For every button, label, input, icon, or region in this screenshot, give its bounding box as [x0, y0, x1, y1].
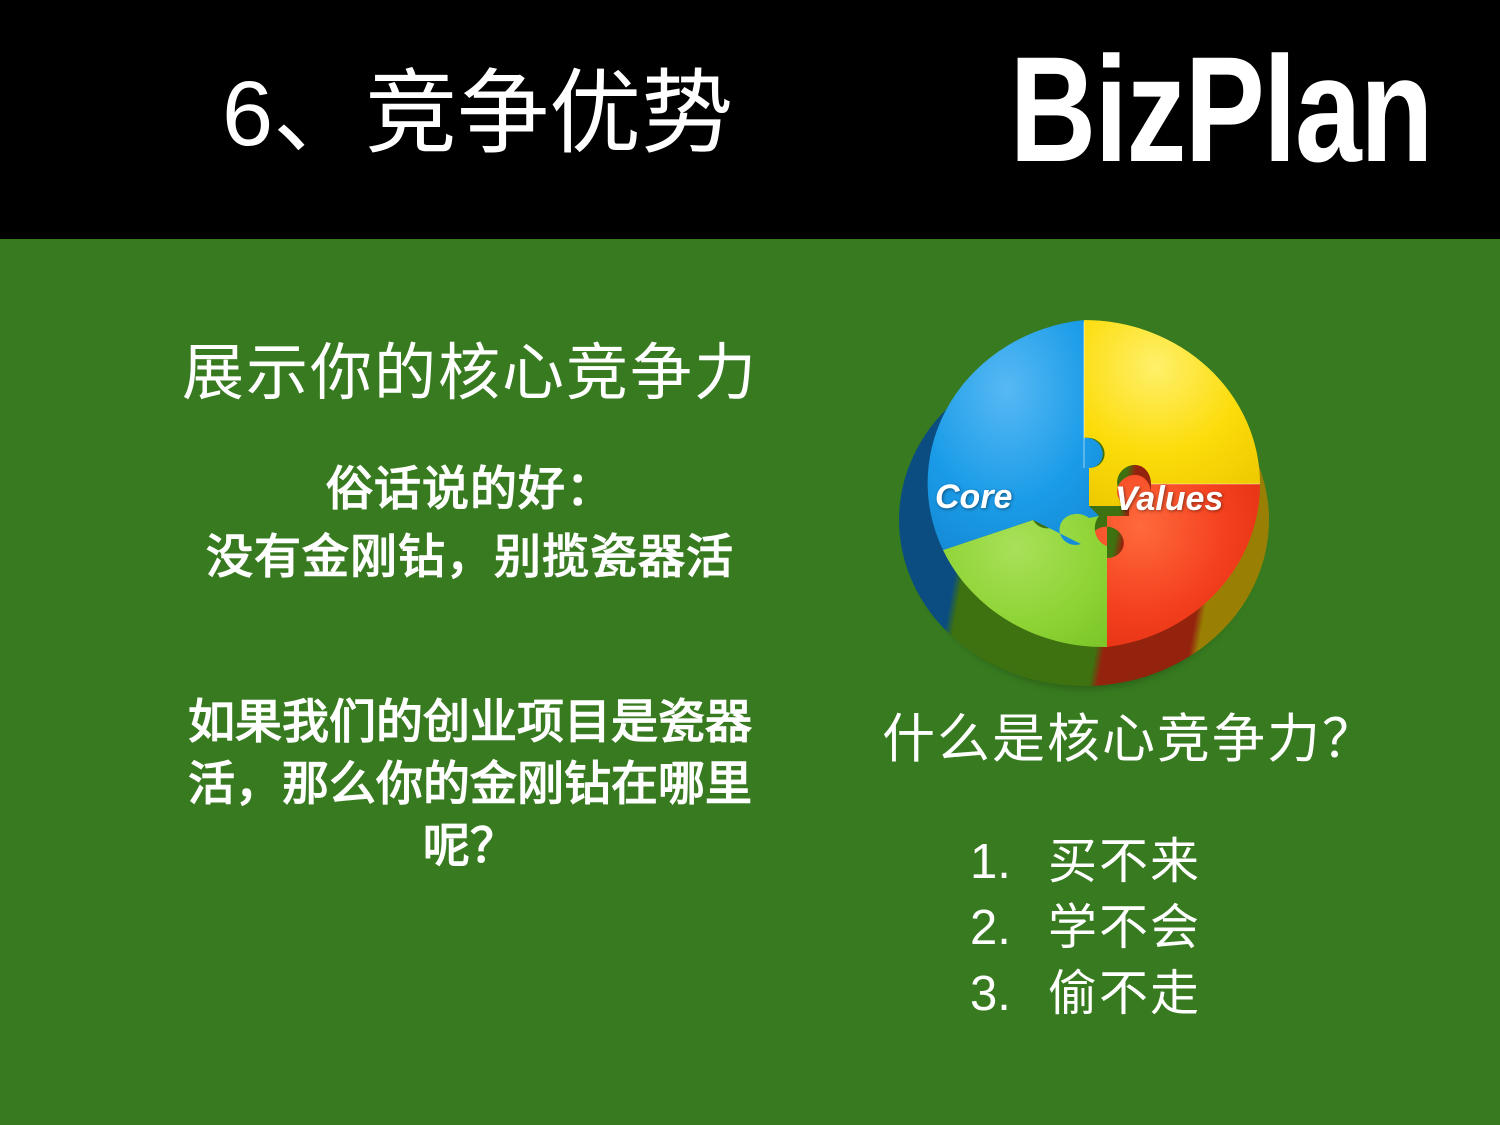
- page-title: 6、竞争优势: [222, 62, 733, 166]
- left-content-column: 展示你的核心竞争力 俗话说的好： 没有金刚钻，别揽瓷器活 如果我们的创业项目是瓷…: [150, 339, 790, 877]
- header-bar: 6、竞争优势 BizPlan: [0, 0, 1500, 239]
- puzzle-label-values: Values: [1115, 480, 1223, 519]
- list-item-label: 偷不走: [1048, 961, 1201, 1027]
- question-text: 如果我们的创业项目是瓷器活，那么你的金刚钻在哪里呢？: [150, 691, 790, 877]
- core-values-puzzle-image: Core Values: [893, 318, 1275, 690]
- list-item: 3. 偷不走: [970, 961, 1420, 1027]
- proverb-block: 俗话说的好： 没有金刚钻，别揽瓷器活: [150, 455, 790, 591]
- list-item: 2. 学不会: [970, 895, 1420, 961]
- list-item-number: 2.: [970, 895, 1048, 961]
- right-content-column: Core Values 什么是核心竞争力？ 1. 买不来 2. 学不会 3. 偷…: [860, 239, 1420, 1125]
- proverb-line-2: 没有金刚钻，别揽瓷器活: [150, 523, 790, 591]
- list-item: 1. 买不来: [970, 829, 1420, 895]
- puzzle-piece-top: [1071, 320, 1260, 506]
- core-competence-list: 1. 买不来 2. 学不会 3. 偷不走: [970, 829, 1420, 1027]
- list-item-number: 1.: [970, 829, 1048, 895]
- proverb-line-1: 俗话说的好：: [150, 455, 790, 523]
- list-item-number: 3.: [970, 961, 1048, 1027]
- puzzle-label-core: Core: [935, 478, 1012, 517]
- list-item-label: 学不会: [1048, 895, 1201, 961]
- brand-logo: BizPlan: [1010, 34, 1432, 184]
- slide-body: 展示你的核心竞争力 俗话说的好： 没有金刚钻，别揽瓷器活 如果我们的创业项目是瓷…: [0, 239, 1500, 1125]
- right-heading: 什么是核心竞争力？: [860, 710, 1420, 770]
- list-item-label: 买不来: [1048, 829, 1201, 895]
- left-headline: 展示你的核心竞争力: [150, 339, 790, 409]
